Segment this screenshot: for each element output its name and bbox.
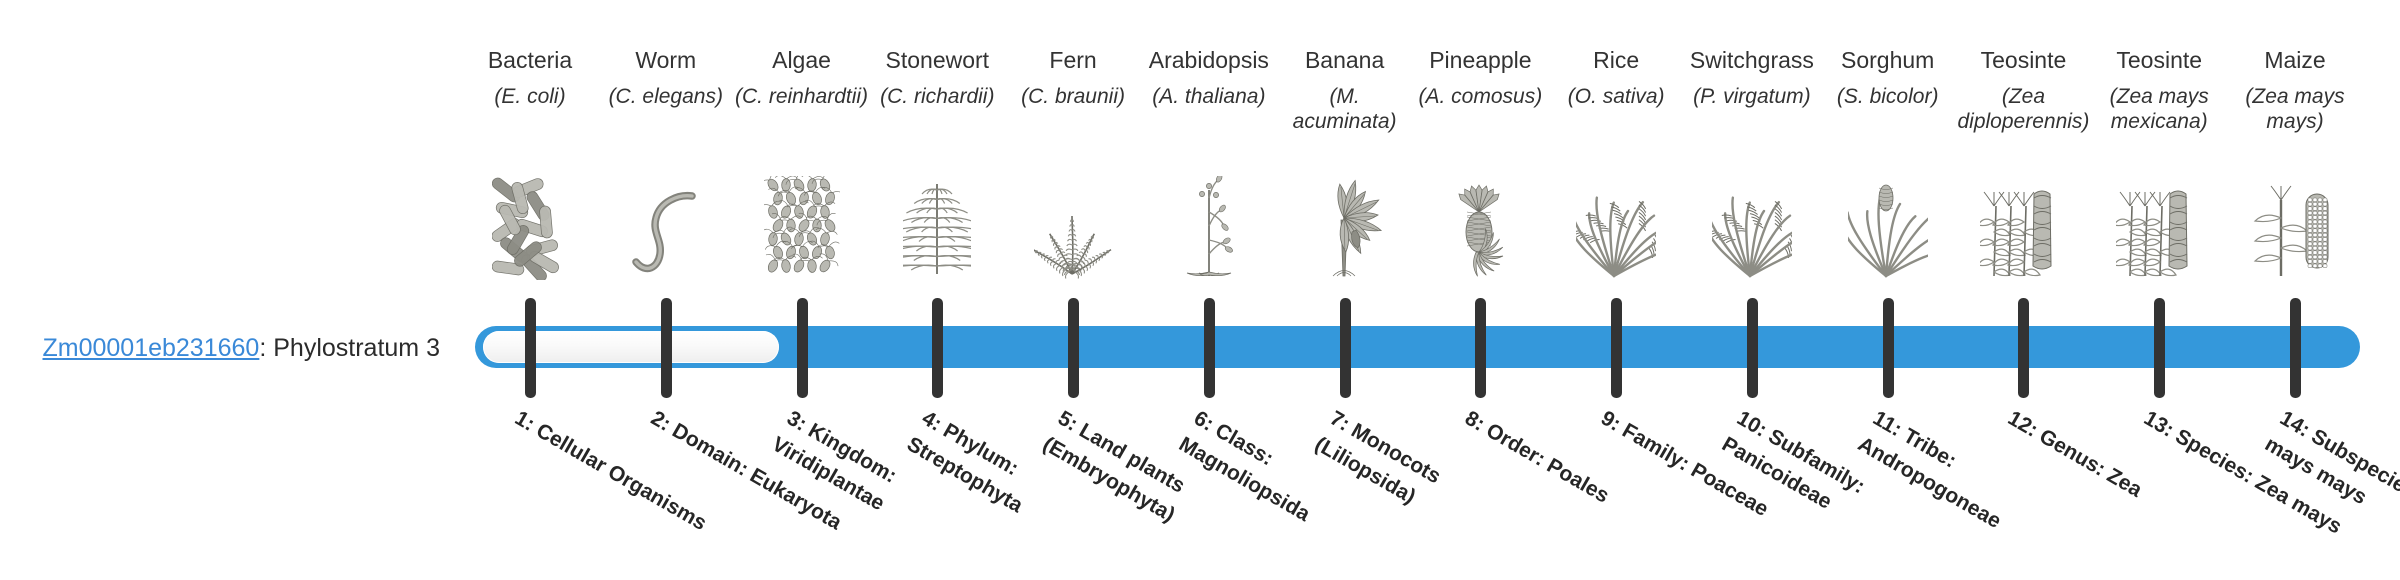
maize-icon (2227, 172, 2363, 280)
phylostratum-tick-9[interactable] (1611, 298, 1622, 398)
phylostratum-tick-13[interactable] (2154, 298, 2165, 398)
species-column-11: Sorghum(S. bicolor) (1820, 46, 1956, 136)
species-latin-name: (P. virgatum) (1684, 84, 1820, 136)
gene-caption: Zm00001eb231660: Phylostratum 3 (40, 333, 440, 363)
species-latin-name: (C. elegans) (598, 84, 734, 136)
species-common-name: Fern (1005, 46, 1141, 74)
phylostratum-tick-2[interactable] (661, 298, 672, 398)
species-common-name: Switchgrass (1684, 46, 1820, 74)
species-common-name: Teosinte (1955, 46, 2091, 74)
phylostratum-tick-12[interactable] (2018, 298, 2029, 398)
fern-icon (1005, 172, 1141, 280)
phylostratum-tick-3[interactable] (797, 298, 808, 398)
teosinte-diplo-icon (1955, 172, 2091, 280)
species-column-12: Teosinte(Zea diploperennis) (1955, 46, 2091, 136)
species-column-10: Switchgrass(P. virgatum) (1684, 46, 1820, 136)
gene-id-link[interactable]: Zm00001eb231660 (42, 334, 259, 362)
phylostratum-tick-6[interactable] (1204, 298, 1215, 398)
species-common-name: Maize (2227, 46, 2363, 74)
species-latin-name: (Zea mays mays) (2227, 84, 2363, 136)
species-latin-name: (A. thaliana) (1141, 84, 1277, 136)
species-latin-name: (O. sativa) (1548, 84, 1684, 136)
species-latin-name: (S. bicolor) (1820, 84, 1956, 136)
species-latin-name: (M. acuminata) (1277, 84, 1413, 136)
species-column-5: Fern(C. braunii) (1005, 46, 1141, 136)
species-common-name: Rice (1548, 46, 1684, 74)
worm-icon (598, 172, 734, 280)
phylostratum-label: Phylostratum 3 (273, 334, 440, 362)
species-column-6: Arabidopsis(A. thaliana) (1141, 46, 1277, 136)
species-latin-name: (A. comosus) (1412, 84, 1548, 136)
phylostratum-tick-5[interactable] (1068, 298, 1079, 398)
phylostratum-tick-14[interactable] (2290, 298, 2301, 398)
species-column-13: Teosinte(Zea mays mexicana) (2091, 46, 2227, 136)
species-common-name: Algae (734, 46, 870, 74)
species-column-4: Stonewort(C. richardii) (869, 46, 1005, 136)
species-latin-name: (C. richardii) (869, 84, 1005, 136)
species-column-3: Algae(C. reinhardtii) (734, 46, 870, 136)
gene-caption-separator: : (259, 334, 273, 362)
arabidopsis-icon (1141, 172, 1277, 280)
banana-icon (1277, 172, 1413, 280)
species-column-7: Banana(M. acuminata) (1277, 46, 1413, 136)
pineapple-icon (1412, 172, 1548, 280)
species-column-2: Worm(C. elegans) (598, 46, 734, 136)
phylostratum-tick-7[interactable] (1340, 298, 1351, 398)
phylostratum-tick-1[interactable] (525, 298, 536, 398)
species-latin-name: (Zea mays mexicana) (2091, 84, 2227, 136)
phylostratigraphy-figure: Zm00001eb231660: Phylostratum 3 Bacteria… (0, 0, 2400, 580)
rice-icon (1548, 172, 1684, 280)
phylostratum-tick-4[interactable] (932, 298, 943, 398)
teosinte-mex-icon (2091, 172, 2227, 280)
species-common-name: Sorghum (1820, 46, 1956, 74)
species-common-name: Teosinte (2091, 46, 2227, 74)
species-column-1: Bacteria(E. coli) (462, 46, 598, 136)
species-common-name: Worm (598, 46, 734, 74)
algae-icon (734, 172, 870, 280)
species-latin-name: (Zea diploperennis) (1955, 84, 2091, 136)
phylostratum-tick-8[interactable] (1475, 298, 1486, 398)
sorghum-icon (1820, 172, 1956, 280)
species-latin-name: (C. braunii) (1005, 84, 1141, 136)
species-latin-name: (C. reinhardtii) (734, 84, 870, 136)
phylostratum-tick-10[interactable] (1747, 298, 1758, 398)
switchgrass-icon (1684, 172, 1820, 280)
species-column-14: Maize(Zea mays mays) (2227, 46, 2363, 136)
bacteria-icon (462, 172, 598, 280)
species-common-name: Stonewort (869, 46, 1005, 74)
species-common-name: Pineapple (1412, 46, 1548, 74)
phylostratum-bar[interactable] (475, 326, 2360, 368)
species-common-name: Banana (1277, 46, 1413, 74)
species-common-name: Arabidopsis (1141, 46, 1277, 74)
stonewort-icon (869, 172, 1005, 280)
species-column-8: Pineapple(A. comosus) (1412, 46, 1548, 136)
species-common-name: Bacteria (462, 46, 598, 74)
species-column-9: Rice(O. sativa) (1548, 46, 1684, 136)
species-latin-name: (E. coli) (462, 84, 598, 136)
phylostratum-tick-11[interactable] (1883, 298, 1894, 398)
